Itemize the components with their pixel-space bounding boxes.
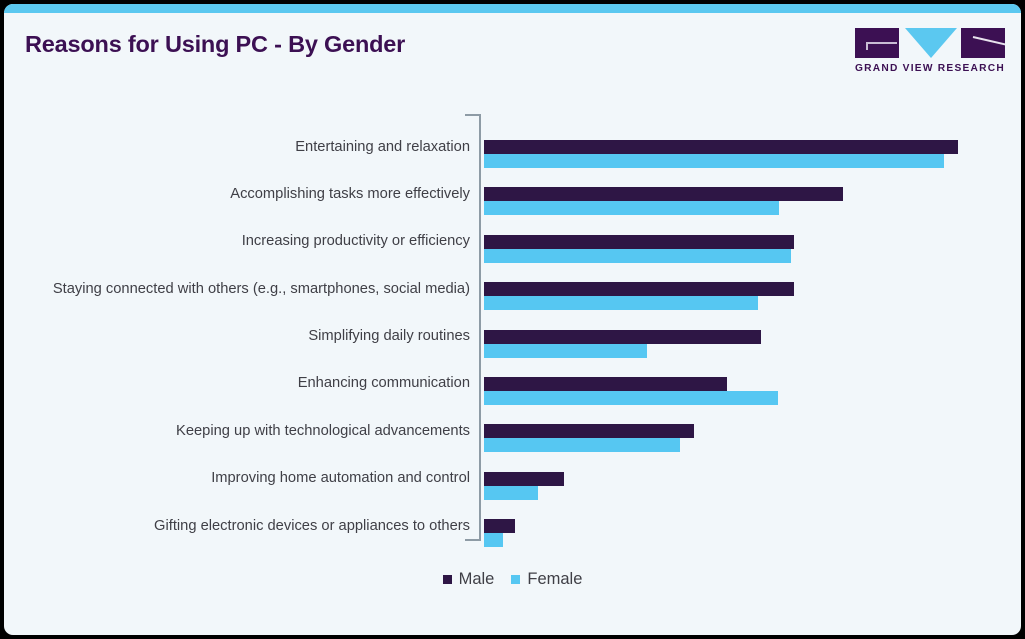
chart-card: Reasons for Using PC - By Gender GRAND V…: [4, 4, 1021, 635]
bar-group: [484, 519, 1004, 547]
bar-male[interactable]: [484, 140, 958, 154]
legend-swatch-icon: [443, 575, 452, 584]
bar-row: Increasing productivity or efficiency: [4, 209, 1021, 256]
bar-row: Keeping up with technological advancemen…: [4, 398, 1021, 445]
category-label: Improving home automation and control: [50, 470, 470, 487]
category-label: Keeping up with technological advancemen…: [50, 423, 470, 440]
chart-legend: MaleFemale: [4, 570, 1021, 589]
screenshot-canvas: Reasons for Using PC - By Gender GRAND V…: [0, 0, 1025, 639]
category-label: Gifting electronic devices or appliances…: [50, 518, 470, 535]
bar-male[interactable]: [484, 472, 564, 486]
category-label: Increasing productivity or efficiency: [50, 233, 470, 250]
category-label: Simplifying daily routines: [50, 328, 470, 345]
bar-row: Improving home automation and control: [4, 446, 1021, 493]
bar-row: Staying connected with others (e.g., sma…: [4, 256, 1021, 303]
bar-row: Gifting electronic devices or appliances…: [4, 493, 1021, 540]
bar-female[interactable]: [484, 533, 503, 547]
bar-rows: Entertaining and relaxationAccomplishing…: [4, 114, 1021, 541]
bar-row: Accomplishing tasks more effectively: [4, 161, 1021, 208]
bar-male[interactable]: [484, 282, 794, 296]
bar-male[interactable]: [484, 424, 694, 438]
legend-item-female[interactable]: Female: [511, 570, 582, 589]
legend-label: Female: [527, 570, 582, 589]
legend-item-male[interactable]: Male: [443, 570, 495, 589]
bar-row: Enhancing communication: [4, 351, 1021, 398]
chart-plot-area: Entertaining and relaxationAccomplishing…: [4, 4, 1021, 635]
bar-male[interactable]: [484, 187, 843, 201]
bar-male[interactable]: [484, 235, 794, 249]
category-label: Staying connected with others (e.g., sma…: [50, 281, 470, 298]
category-label: Accomplishing tasks more effectively: [50, 186, 470, 203]
bar-row: Entertaining and relaxation: [4, 114, 1021, 161]
bar-male[interactable]: [484, 330, 761, 344]
legend-label: Male: [459, 570, 495, 589]
bar-male[interactable]: [484, 377, 727, 391]
bar-male[interactable]: [484, 519, 515, 533]
category-label: Enhancing communication: [50, 375, 470, 392]
bar-row: Simplifying daily routines: [4, 304, 1021, 351]
category-label: Entertaining and relaxation: [50, 139, 470, 156]
legend-swatch-icon: [511, 575, 520, 584]
